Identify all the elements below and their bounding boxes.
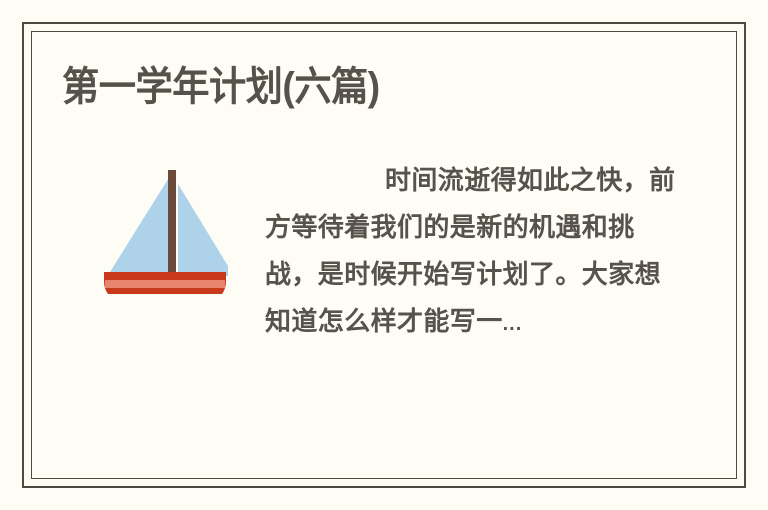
article-content: 第一学年计划(六篇) 时: [32, 32, 736, 478]
article-summary: 时间流逝得如此之快，前方等待着我们的是新的机遇和挑战，是时候开始写计划了。大家想…: [265, 157, 678, 348]
article-card: 第一学年计划(六篇) 时: [22, 22, 746, 488]
article-card-inner-border: 第一学年计划(六篇) 时: [31, 31, 737, 479]
article-summary-ellipsis: ...: [503, 313, 523, 335]
page-title: 第一学年计划(六篇): [62, 65, 380, 109]
article-summary-text: 时间流逝得如此之快，前方等待着我们的是新的机遇和挑战，是时候开始写计划了。大家想…: [265, 165, 675, 336]
sailboat-icon: [102, 164, 228, 294]
